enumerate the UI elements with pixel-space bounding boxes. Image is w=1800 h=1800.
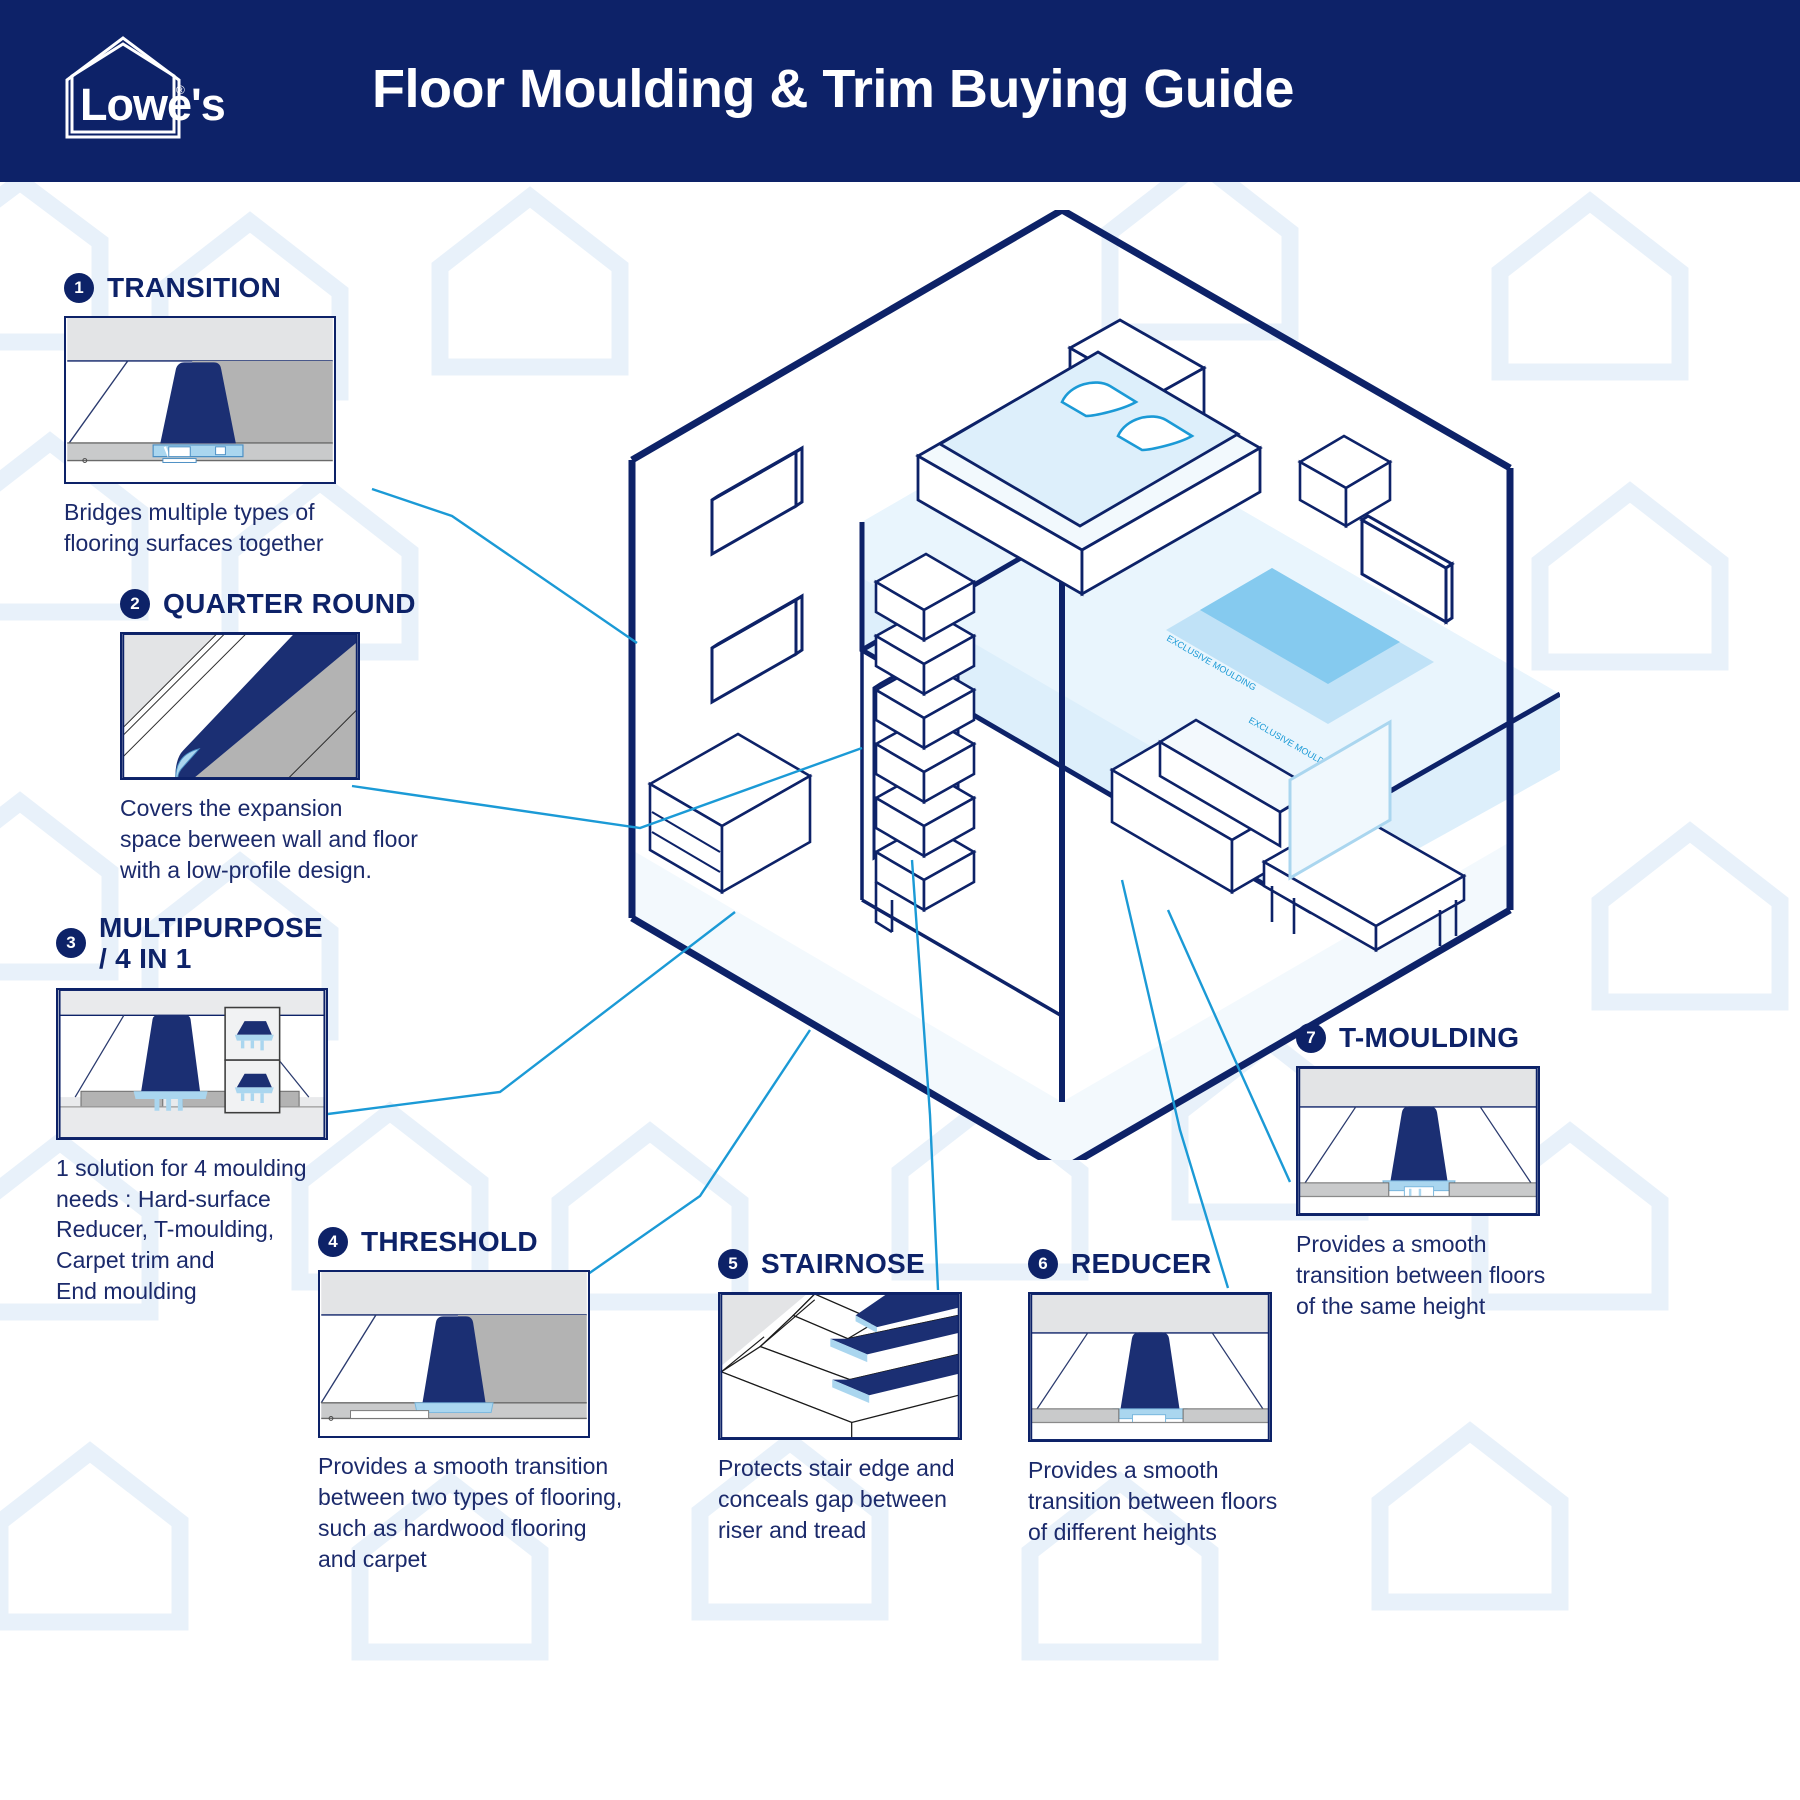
badge-number-6: 6 bbox=[1028, 1249, 1058, 1279]
panel-header: 5 STAIRNOSE bbox=[718, 1248, 962, 1279]
badge-number-3: 3 bbox=[56, 928, 86, 958]
page-title: Floor Moulding & Trim Buying Guide bbox=[372, 58, 1294, 120]
panel-title-transition: TRANSITION bbox=[107, 272, 281, 303]
panel-threshold: 4 THRESHOLD Provides a smooth transition… bbox=[318, 1226, 622, 1575]
panel-caption-transition: Bridges multiple types of flooring surfa… bbox=[64, 497, 336, 559]
panel-title-t-moulding: T-MOULDING bbox=[1339, 1022, 1519, 1053]
panel-header: 6 REDUCER bbox=[1028, 1248, 1277, 1279]
panel-caption-t-moulding: Provides a smooth transition between flo… bbox=[1296, 1229, 1545, 1321]
panel-header: 7 T-MOULDING bbox=[1296, 1022, 1545, 1053]
stairnose-diagram bbox=[718, 1292, 962, 1440]
panel-t-moulding: 7 T-MOULDING Provides a smooth transitio… bbox=[1296, 1022, 1545, 1322]
panel-title-reducer: REDUCER bbox=[1071, 1248, 1212, 1279]
panel-stairnose: 5 STAIRNOSE Protects stair edge and conc… bbox=[718, 1248, 962, 1546]
panel-header: 3 MULTIPURPOSE / 4 IN 1 bbox=[56, 912, 328, 975]
quarter-round-diagram bbox=[120, 632, 360, 780]
panel-title-threshold: THRESHOLD bbox=[361, 1226, 538, 1257]
panel-caption-multipurpose: 1 solution for 4 moulding needs : Hard-s… bbox=[56, 1153, 328, 1307]
logo-wordmark: Lowe's bbox=[80, 79, 225, 130]
t-moulding-diagram bbox=[1296, 1066, 1540, 1216]
panel-caption-threshold: Provides a smooth transition between two… bbox=[318, 1451, 622, 1574]
panel-title-multipurpose: MULTIPURPOSE / 4 IN 1 bbox=[99, 912, 323, 975]
multipurpose-diagram bbox=[56, 988, 328, 1140]
page-header: Lowe's ® Floor Moulding & Trim Buying Gu… bbox=[0, 0, 1800, 182]
panel-multipurpose: 3 MULTIPURPOSE / 4 IN 1 1 solution for 4… bbox=[56, 912, 328, 1307]
transition-diagram bbox=[64, 316, 336, 484]
panel-header: 2 QUARTER ROUND bbox=[120, 588, 418, 619]
lowes-logo: Lowe's ® bbox=[58, 36, 268, 146]
panel-reducer: 6 REDUCER Provides a smooth transition b… bbox=[1028, 1248, 1277, 1548]
badge-number-4: 4 bbox=[318, 1227, 348, 1257]
badge-number-1: 1 bbox=[64, 273, 94, 303]
reducer-diagram bbox=[1028, 1292, 1272, 1442]
isometric-house-illustration: EXCLUSIVE MOULDING EXCLUSIVE MOULDING bbox=[600, 210, 1560, 1160]
panel-transition: 1 TRANSITION Bridges multiple types of f… bbox=[64, 272, 336, 559]
panel-title-stairnose: STAIRNOSE bbox=[761, 1248, 925, 1279]
threshold-diagram bbox=[318, 1270, 590, 1438]
logo-trademark-icon: ® bbox=[176, 83, 185, 97]
panel-header: 1 TRANSITION bbox=[64, 272, 336, 303]
panel-title-quarter-round: QUARTER ROUND bbox=[163, 588, 416, 619]
badge-number-5: 5 bbox=[718, 1249, 748, 1279]
panel-caption-quarter-round: Covers the expansion space berween wall … bbox=[120, 793, 418, 885]
badge-number-2: 2 bbox=[120, 589, 150, 619]
badge-number-7: 7 bbox=[1296, 1023, 1326, 1053]
panel-header: 4 THRESHOLD bbox=[318, 1226, 622, 1257]
panel-quarter-round: 2 QUARTER ROUND Covers the expansion spa… bbox=[120, 588, 418, 886]
panel-caption-reducer: Provides a smooth transition between flo… bbox=[1028, 1455, 1277, 1547]
panel-caption-stairnose: Protects stair edge and conceals gap bet… bbox=[718, 1453, 962, 1545]
